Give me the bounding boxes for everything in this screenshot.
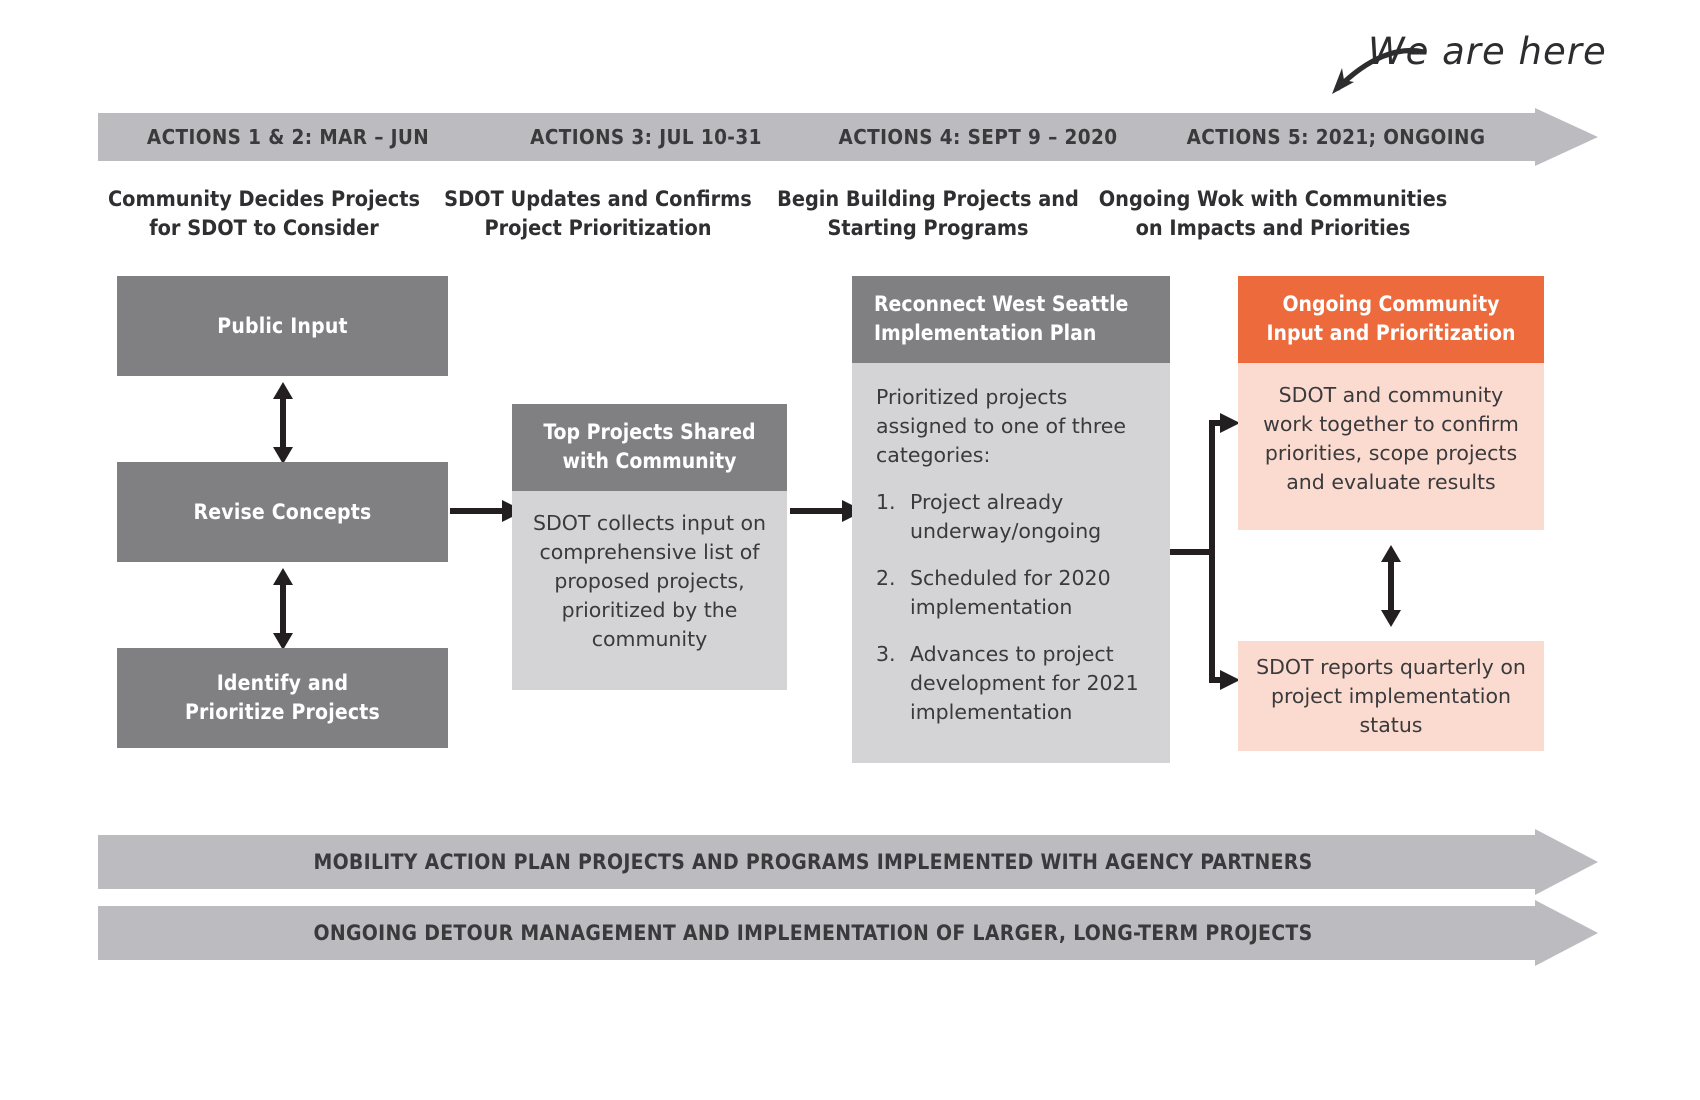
- banner-mobility-action-plan: MOBILITY ACTION PLAN PROJECTS AND PROGRA…: [98, 835, 1598, 889]
- list-item-number: 3.: [876, 640, 896, 669]
- column-subtitle-3: Begin Building Projects and Starting Pro…: [768, 185, 1088, 243]
- card-top-projects-shared-header: Top Projects Shared with Community: [512, 404, 787, 491]
- list-item-text: Project already underway/ongoing: [910, 490, 1101, 543]
- list-item-number: 2.: [876, 564, 896, 593]
- column-subtitle-2-line1: SDOT Updates and Confirms: [440, 185, 756, 214]
- card-ongoing-community-input-header: Ongoing Community Input and Prioritizati…: [1238, 276, 1544, 363]
- phase-timeline-arrow: ACTIONS 1 & 2: MAR – JUN ACTIONS 3: JUL …: [98, 113, 1598, 161]
- column-subtitle-4-line2: on Impacts and Priorities: [1098, 214, 1448, 243]
- phase-label-1: ACTIONS 1 & 2: MAR – JUN: [98, 113, 478, 161]
- column-subtitle-3-line2: Starting Programs: [768, 214, 1088, 243]
- card-reconnect-west-seattle: Reconnect West Seattle Implementation Pl…: [852, 276, 1170, 766]
- box-identify-prioritize-line2: Prioritize Projects: [185, 698, 380, 727]
- banner-mobility-action-plan-label: MOBILITY ACTION PLAN PROJECTS AND PROGRA…: [98, 835, 1528, 889]
- list-item-number: 1.: [876, 488, 896, 517]
- card-top-projects-shared-header-line2: with Community: [528, 447, 771, 476]
- we-are-here-label: We are here: [1368, 30, 1638, 86]
- card-ongoing-community-input-body: SDOT and community work together to conf…: [1238, 363, 1544, 530]
- column-subtitle-1-line2: for SDOT to Consider: [98, 214, 430, 243]
- banner-ongoing-detour-management: ONGOING DETOUR MANAGEMENT AND IMPLEMENTA…: [98, 906, 1598, 960]
- box-revise-concepts: Revise Concepts: [117, 462, 448, 562]
- card-top-projects-shared: Top Projects Shared with Community SDOT …: [512, 404, 787, 690]
- column-subtitle-4: Ongoing Wok with Communities on Impacts …: [1098, 185, 1448, 243]
- arrow-ongoing-input-sdot-reports: [1375, 545, 1407, 627]
- list-item: 1. Project already underway/ongoing: [876, 488, 1156, 546]
- arrow-revise-concepts-identify: [267, 568, 299, 650]
- arrow-public-input-revise-concepts: [267, 382, 299, 464]
- column-subtitle-4-line1: Ongoing Wok with Communities: [1098, 185, 1448, 214]
- card-reconnect-west-seattle-header: Reconnect West Seattle Implementation Pl…: [852, 276, 1170, 363]
- card-top-projects-shared-header-line1: Top Projects Shared: [528, 418, 771, 447]
- card-reconnect-header-line2: Implementation Plan: [874, 319, 1154, 348]
- box-public-input-label: Public Input: [217, 312, 347, 341]
- box-sdot-reports-quarterly-label: SDOT reports quarterly on project implem…: [1252, 653, 1530, 740]
- connector-col3-to-col4-branch: [1170, 400, 1240, 700]
- card-reconnect-intro: Prioritized projects assigned to one of …: [876, 383, 1156, 470]
- box-public-input: Public Input: [117, 276, 448, 376]
- diagram-canvas: We are here ACTIONS 1 & 2: MAR – JUN ACT…: [0, 0, 1700, 1100]
- list-item-text: Scheduled for 2020 implementation: [910, 566, 1111, 619]
- column-subtitle-2-line2: Project Prioritization: [440, 214, 756, 243]
- card-reconnect-header-line1: Reconnect West Seattle: [874, 290, 1154, 319]
- list-item: 2. Scheduled for 2020 implementation: [876, 564, 1156, 622]
- phase-label-2: ACTIONS 3: JUL 10-31: [476, 113, 816, 161]
- card-ongoing-header-line1: Ongoing Community: [1254, 290, 1528, 319]
- column-subtitle-2: SDOT Updates and Confirms Project Priori…: [440, 185, 756, 243]
- card-reconnect-category-list: 1. Project already underway/ongoing 2. S…: [876, 488, 1156, 727]
- card-ongoing-community-input: Ongoing Community Input and Prioritizati…: [1238, 276, 1544, 530]
- phase-label-3: ACTIONS 4: SEPT 9 – 2020: [798, 113, 1158, 161]
- box-identify-prioritize: Identify and Prioritize Projects: [117, 648, 448, 748]
- card-ongoing-header-line2: Input and Prioritization: [1254, 319, 1528, 348]
- box-revise-concepts-label: Revise Concepts: [194, 498, 372, 527]
- card-top-projects-shared-body: SDOT collects input on comprehensive lis…: [512, 491, 787, 690]
- card-reconnect-west-seattle-body: Prioritized projects assigned to one of …: [852, 363, 1170, 763]
- banner-ongoing-detour-management-label: ONGOING DETOUR MANAGEMENT AND IMPLEMENTA…: [98, 906, 1528, 960]
- column-subtitle-3-line1: Begin Building Projects and: [768, 185, 1088, 214]
- list-item-text: Advances to project development for 2021…: [910, 642, 1139, 724]
- column-subtitle-1-line1: Community Decides Projects: [98, 185, 430, 214]
- column-subtitle-1: Community Decides Projects for SDOT to C…: [98, 185, 430, 243]
- box-sdot-reports-quarterly: SDOT reports quarterly on project implem…: [1238, 641, 1544, 751]
- list-item: 3. Advances to project development for 2…: [876, 640, 1156, 727]
- phase-label-4: ACTIONS 5: 2021; ONGOING: [1146, 113, 1526, 161]
- box-identify-prioritize-line1: Identify and: [185, 669, 380, 698]
